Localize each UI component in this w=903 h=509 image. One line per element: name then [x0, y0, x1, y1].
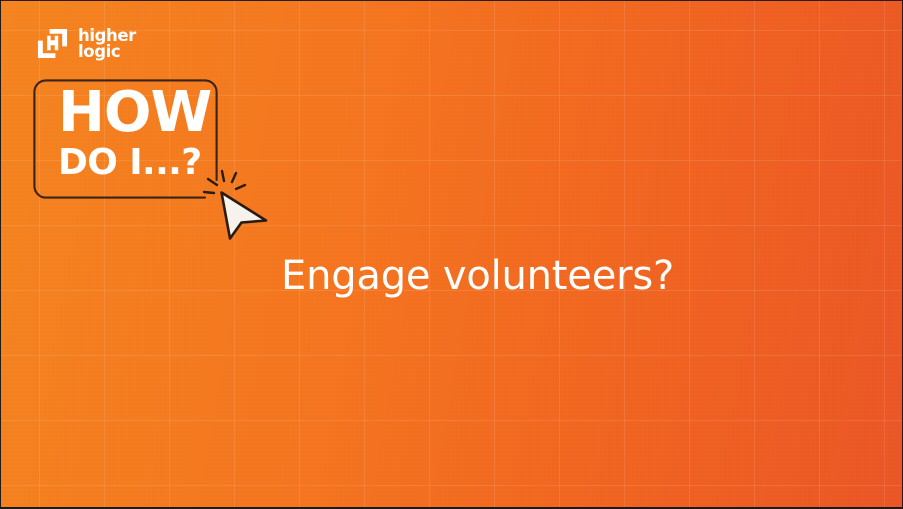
badge-line-do-i: DO I...?: [58, 145, 211, 181]
cursor-arrow-shape: [222, 193, 267, 239]
higher-logic-logo: higher logic: [36, 27, 136, 60]
badge-line-how: HOW: [58, 87, 211, 139]
click-cursor-icon: [200, 168, 270, 240]
slide-canvas: higher logic HOW DO I...? Engage volunt: [0, 0, 903, 509]
page-title: Engage volunteers?: [281, 253, 674, 299]
how-do-i-text-block: HOW DO I...?: [58, 87, 211, 181]
bracket-h-icon: [36, 27, 69, 60]
logo-word-line-2: logic: [78, 44, 136, 60]
click-spark-lines: [204, 171, 245, 193]
logo-wordmark: higher logic: [78, 28, 136, 60]
